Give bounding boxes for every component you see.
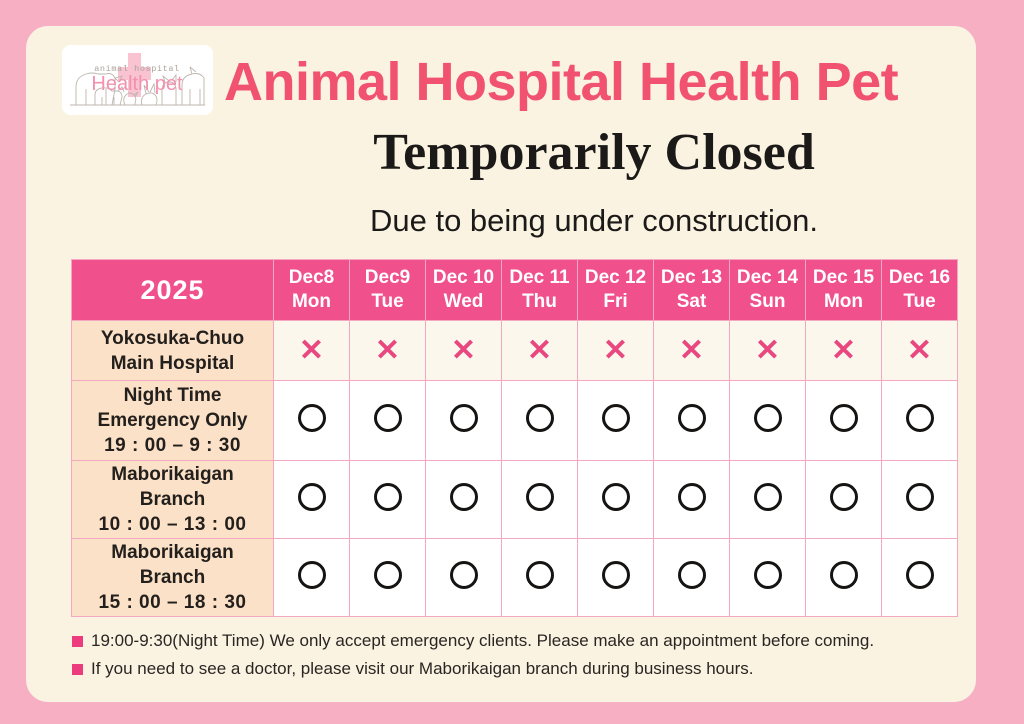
cell-r3-c0 (274, 539, 350, 617)
open-circle-icon (678, 483, 706, 511)
cell-r0-c7: ✕ (806, 321, 882, 381)
cell-r2-c8 (882, 461, 958, 539)
square-bullet-icon (72, 664, 83, 675)
open-circle-icon (754, 561, 782, 589)
cell-r2-c6 (730, 461, 806, 539)
closed-x-icon: ✕ (299, 336, 324, 366)
header-col-0-day: Mon (274, 290, 349, 314)
footnotes: 19:00-9:30(Night Time) We only accept em… (72, 630, 962, 686)
header-col-4-day: Fri (578, 290, 653, 314)
header-col-0-date: Dec8 (274, 266, 349, 290)
closed-x-icon: ✕ (451, 336, 476, 366)
open-circle-icon (298, 483, 326, 511)
poster-root: animal hospital Health pet Animal Hospit… (0, 0, 1024, 724)
row-label-3: Maborikaigan Branch 15 : 00 – 18 : 30 (72, 539, 274, 617)
open-circle-icon (906, 483, 934, 511)
table-row: Night Time Emergency Only 19 : 00 – 9 : … (72, 381, 958, 461)
cell-r3-c5 (654, 539, 730, 617)
cell-r2-c2 (426, 461, 502, 539)
open-circle-icon (830, 561, 858, 589)
header-col-7-date: Dec 15 (806, 266, 881, 290)
closed-x-icon: ✕ (755, 336, 780, 366)
open-circle-icon (374, 404, 402, 432)
closed-x-icon: ✕ (603, 336, 628, 366)
footnote-item: If you need to see a doctor, please visi… (72, 658, 962, 680)
row-label-3-time: 15 : 00 – 18 : 30 (72, 590, 273, 615)
header-col-3-day: Thu (502, 290, 577, 314)
page-title: Animal Hospital Health Pet (224, 51, 964, 113)
cell-r3-c3 (502, 539, 578, 617)
cell-r0-c3: ✕ (502, 321, 578, 381)
clinic-logo: animal hospital Health pet (62, 45, 213, 115)
cell-r2-c0 (274, 461, 350, 539)
open-circle-icon (678, 561, 706, 589)
page-subtitle: Temporarily Closed (224, 124, 964, 182)
cell-r0-c6: ✕ (730, 321, 806, 381)
cell-r2-c1 (350, 461, 426, 539)
header-col-5: Dec 13 Sat (654, 260, 730, 321)
open-circle-icon (678, 404, 706, 432)
cell-r0-c2: ✕ (426, 321, 502, 381)
open-circle-icon (754, 483, 782, 511)
open-circle-icon (602, 483, 630, 511)
closed-x-icon: ✕ (527, 336, 552, 366)
cell-r2-c5 (654, 461, 730, 539)
header-col-1-date: Dec9 (350, 266, 425, 290)
header-col-3: Dec 11 Thu (502, 260, 578, 321)
row-label-1: Night Time Emergency Only 19 : 00 – 9 : … (72, 381, 274, 461)
row-label-1-line-1: Night Time (72, 383, 273, 408)
table-row: Maborikaigan Branch 10 : 00 – 13 : 00 (72, 461, 958, 539)
header-col-4: Dec 12 Fri (578, 260, 654, 321)
cell-r0-c0: ✕ (274, 321, 350, 381)
open-circle-icon (374, 483, 402, 511)
closed-x-icon: ✕ (375, 336, 400, 366)
header-col-2-day: Wed (426, 290, 501, 314)
table-header-row: 2025 Dec8 Mon Dec9 Tue Dec 10 Wed Dec 1 (72, 260, 958, 321)
table-row: Yokosuka-Chuo Main Hospital ✕ ✕ ✕ ✕ ✕ ✕ … (72, 321, 958, 381)
cell-r1-c5 (654, 381, 730, 461)
header-col-4-date: Dec 12 (578, 266, 653, 290)
header-col-7-day: Mon (806, 290, 881, 314)
open-circle-icon (830, 404, 858, 432)
cell-r1-c1 (350, 381, 426, 461)
footnote-text-1: 19:00-9:30(Night Time) We only accept em… (91, 630, 874, 652)
header-col-3-date: Dec 11 (502, 266, 577, 290)
cell-r3-c2 (426, 539, 502, 617)
page-reason-note: Due to being under construction. (224, 203, 964, 239)
row-label-0: Yokosuka-Chuo Main Hospital (72, 321, 274, 381)
open-circle-icon (298, 404, 326, 432)
header-col-1-day: Tue (350, 290, 425, 314)
cell-r2-c7 (806, 461, 882, 539)
row-label-0-line-2: Main Hospital (72, 351, 273, 376)
open-circle-icon (602, 404, 630, 432)
open-circle-icon (526, 404, 554, 432)
logo-artwork: animal hospital Health pet (62, 45, 213, 115)
poster-panel: animal hospital Health pet Animal Hospit… (26, 26, 976, 702)
open-circle-icon (526, 561, 554, 589)
open-circle-icon (450, 404, 478, 432)
row-label-2: Maborikaigan Branch 10 : 00 – 13 : 00 (72, 461, 274, 539)
row-label-2-time: 10 : 00 – 13 : 00 (72, 512, 273, 537)
table-header: 2025 Dec8 Mon Dec9 Tue Dec 10 Wed Dec 1 (72, 260, 958, 321)
open-circle-icon (906, 404, 934, 432)
cell-r0-c4: ✕ (578, 321, 654, 381)
cell-r2-c3 (502, 461, 578, 539)
cell-r1-c0 (274, 381, 350, 461)
open-circle-icon (450, 483, 478, 511)
header-col-2-date: Dec 10 (426, 266, 501, 290)
closed-x-icon: ✕ (679, 336, 704, 366)
cell-r2-c4 (578, 461, 654, 539)
header-year: 2025 (72, 260, 274, 321)
header-col-1: Dec9 Tue (350, 260, 426, 321)
header-col-7: Dec 15 Mon (806, 260, 882, 321)
cell-r0-c1: ✕ (350, 321, 426, 381)
cell-r3-c8 (882, 539, 958, 617)
open-circle-icon (526, 483, 554, 511)
cell-r1-c3 (502, 381, 578, 461)
cell-r0-c8: ✕ (882, 321, 958, 381)
square-bullet-icon (72, 636, 83, 647)
row-label-1-time: 19 : 00 – 9 : 30 (72, 433, 273, 458)
cell-r1-c8 (882, 381, 958, 461)
header-col-5-date: Dec 13 (654, 266, 729, 290)
row-label-2-line-2: Branch (72, 487, 273, 512)
header-col-2: Dec 10 Wed (426, 260, 502, 321)
header-col-8: Dec 16 Tue (882, 260, 958, 321)
row-label-3-line-2: Branch (72, 565, 273, 590)
cell-r1-c7 (806, 381, 882, 461)
cell-r3-c7 (806, 539, 882, 617)
table-row: Maborikaigan Branch 15 : 00 – 18 : 30 (72, 539, 958, 617)
header-col-8-day: Tue (882, 290, 957, 314)
row-label-2-line-1: Maborikaigan (72, 462, 273, 487)
footnote-text-2: If you need to see a doctor, please visi… (91, 658, 753, 680)
row-label-0-line-1: Yokosuka-Chuo (72, 326, 273, 351)
open-circle-icon (602, 561, 630, 589)
open-circle-icon (374, 561, 402, 589)
open-circle-icon (450, 561, 478, 589)
header-col-6-date: Dec 14 (730, 266, 805, 290)
logo-name: Health pet (91, 73, 183, 95)
row-label-1-line-2: Emergency Only (72, 408, 273, 433)
cell-r3-c4 (578, 539, 654, 617)
open-circle-icon (906, 561, 934, 589)
header-col-6: Dec 14 Sun (730, 260, 806, 321)
table-body: Yokosuka-Chuo Main Hospital ✕ ✕ ✕ ✕ ✕ ✕ … (72, 321, 958, 617)
cell-r3-c6 (730, 539, 806, 617)
row-label-3-line-1: Maborikaigan (72, 540, 273, 565)
header-col-6-day: Sun (730, 290, 805, 314)
cell-r3-c1 (350, 539, 426, 617)
footnote-item: 19:00-9:30(Night Time) We only accept em… (72, 630, 962, 652)
cell-r0-c5: ✕ (654, 321, 730, 381)
cell-r1-c4 (578, 381, 654, 461)
header-col-5-day: Sat (654, 290, 729, 314)
closure-schedule-table: 2025 Dec8 Mon Dec9 Tue Dec 10 Wed Dec 1 (71, 259, 958, 617)
cell-r1-c6 (730, 381, 806, 461)
closed-x-icon: ✕ (907, 336, 932, 366)
header-col-8-date: Dec 16 (882, 266, 957, 290)
header-col-0: Dec8 Mon (274, 260, 350, 321)
closed-x-icon: ✕ (831, 336, 856, 366)
open-circle-icon (830, 483, 858, 511)
open-circle-icon (298, 561, 326, 589)
cell-r1-c2 (426, 381, 502, 461)
open-circle-icon (754, 404, 782, 432)
